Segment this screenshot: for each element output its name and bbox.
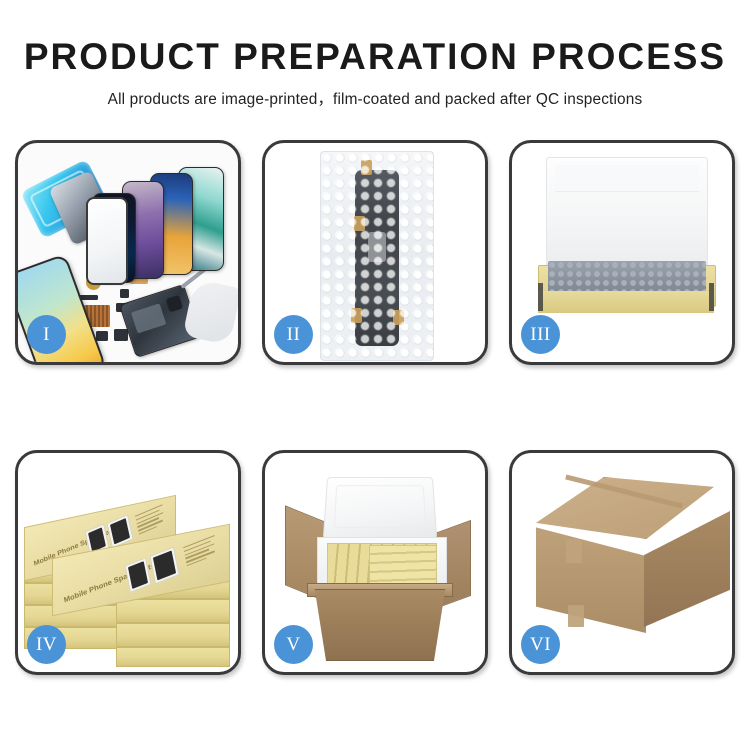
page-title: PRODUCT PREPARATION PROCESS xyxy=(0,38,750,77)
step-badge-2: II xyxy=(274,315,313,354)
carton-body-icon xyxy=(309,589,451,661)
carton-tape-icon xyxy=(566,539,582,563)
phone-lineup-icon xyxy=(92,167,237,282)
step-badge-3: III xyxy=(521,315,560,354)
step-panel-3[interactable]: III xyxy=(509,140,735,365)
step-badge-1: I xyxy=(27,315,66,354)
carton-tape-icon xyxy=(568,605,584,627)
bubble-bag-icon xyxy=(320,151,434,361)
step-badge-5: V xyxy=(274,625,313,664)
step-badge-6: VI xyxy=(521,625,560,664)
product-preparation-page: PRODUCT PREPARATION PROCESS All products… xyxy=(0,0,750,750)
box-corner-right-icon xyxy=(709,283,714,311)
foam-sheet-icon xyxy=(546,157,708,277)
packed-boxes-secondary-icon xyxy=(369,545,437,585)
step-panel-4[interactable]: Mobile Phone Spare Parts Mobile Phone Sp… xyxy=(15,450,241,675)
carton-left-face-icon xyxy=(536,523,646,633)
step-panel-2[interactable]: II xyxy=(262,140,488,365)
page-header: PRODUCT PREPARATION PROCESS All products… xyxy=(0,0,750,109)
tape-tab-icon xyxy=(354,216,365,231)
step-panel-5[interactable]: V xyxy=(262,450,488,675)
process-step-grid: I II xyxy=(15,140,735,675)
tempered-glass-icon xyxy=(86,197,128,285)
step-panel-1[interactable]: I xyxy=(15,140,241,365)
inner-box-front-icon xyxy=(538,291,714,313)
box-corner-left-icon xyxy=(538,283,543,311)
tape-tab-icon xyxy=(361,160,372,175)
carton-top-face-icon xyxy=(536,477,714,539)
bubble-wrapped-units-icon xyxy=(548,261,706,293)
page-subtitle: All products are image-printed，film-coat… xyxy=(0,87,750,109)
foam-case-lid-icon xyxy=(323,477,437,539)
tape-tab-icon xyxy=(351,308,362,323)
tape-tab-icon xyxy=(393,310,404,325)
step-badge-4: IV xyxy=(27,625,66,664)
step-panel-6[interactable]: VI xyxy=(509,450,735,675)
